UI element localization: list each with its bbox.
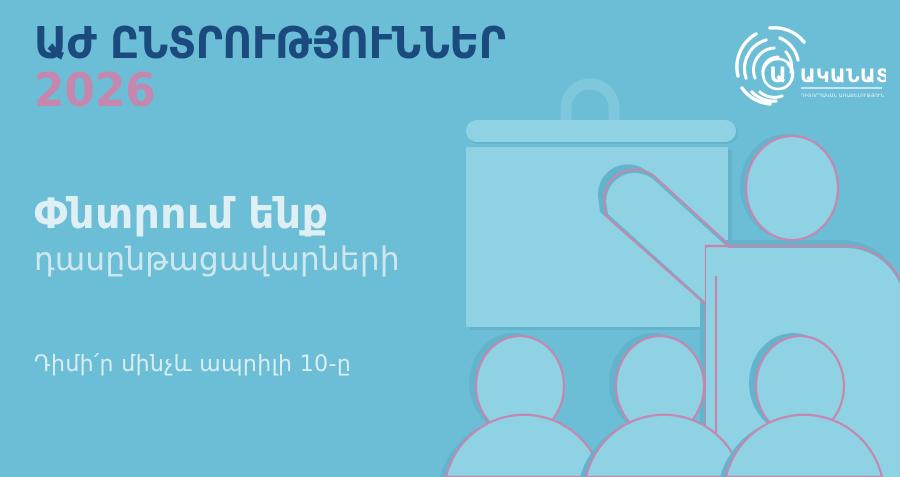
audience-figure-3 bbox=[720, 333, 882, 477]
presenter-arm bbox=[606, 173, 748, 306]
logo-wordmark: ԱԿԱՆԱՏԵՍ bbox=[800, 65, 886, 87]
poster-lead-text: Փնտրում ենք bbox=[34, 192, 490, 236]
poster-subject-text: դասընթացավարների bbox=[34, 242, 490, 277]
presenter-head bbox=[746, 136, 838, 240]
audience-figure-2 bbox=[580, 333, 742, 477]
presenter-arm-outline bbox=[604, 169, 752, 310]
poster-canvas: ԱԺ ԸՆՏՐՈՒԹՅՈՒՆՆԵՐ 2026 Փնտրում ենք դասըն… bbox=[0, 0, 900, 477]
poster-headline: ԱԺ ԸՆՏՐՈՒԹՅՈՒՆՆԵՐ bbox=[34, 22, 471, 65]
poster-year: 2026 bbox=[34, 67, 481, 114]
poster-deadline-text: Դիմի՛ր մինչև ապրիլի 10-ը bbox=[34, 353, 504, 377]
flipchart-board bbox=[466, 84, 738, 330]
logo-monogram: Ա bbox=[769, 63, 786, 87]
akanates-logo[interactable]: Ա ԱԿԱՆԱՏԵՍ ԴԻՏՈՐԴԱԿԱՆ ԱՌԱՔԵԼՈՒԹՅՈՒՆ bbox=[726, 16, 886, 112]
presenter-torso bbox=[706, 248, 900, 477]
poster-text-block: ԱԺ ԸՆՏՐՈՒԹՅՈՒՆՆԵՐ 2026 Փնտրում ենք դասըն… bbox=[34, 22, 504, 377]
presenter-figure bbox=[598, 134, 900, 477]
logo-tagline: ԴԻՏՈՐԴԱԿԱՆ ԱՌԱՔԵԼՈՒԹՅՈՒՆ bbox=[801, 93, 885, 99]
board-hook-icon bbox=[566, 84, 614, 125]
